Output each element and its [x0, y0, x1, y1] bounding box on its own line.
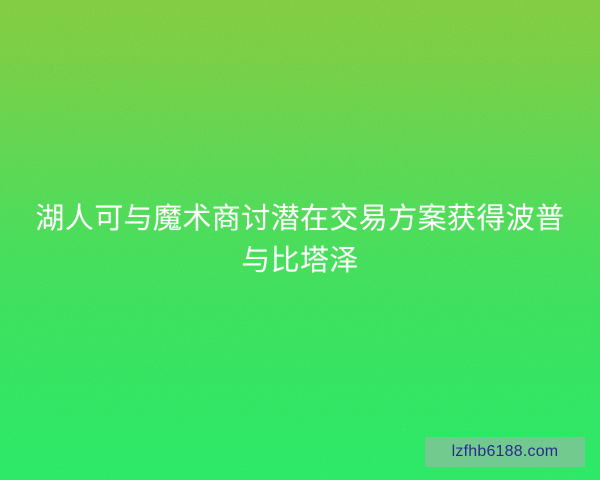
- headline-text: 湖人可与魔术商讨潜在交易方案获得波普 与比塔泽: [0, 198, 600, 282]
- watermark-badge: lzfhb6188.com: [425, 437, 585, 467]
- headline-line-1: 湖人可与魔术商讨潜在交易方案获得波普: [18, 198, 582, 240]
- image-card: 湖人可与魔术商讨潜在交易方案获得波普 与比塔泽 lzfhb6188.com: [0, 0, 600, 480]
- watermark-url-label: lzfhb6188.com: [452, 444, 559, 460]
- headline-line-2: 与比塔泽: [18, 240, 582, 282]
